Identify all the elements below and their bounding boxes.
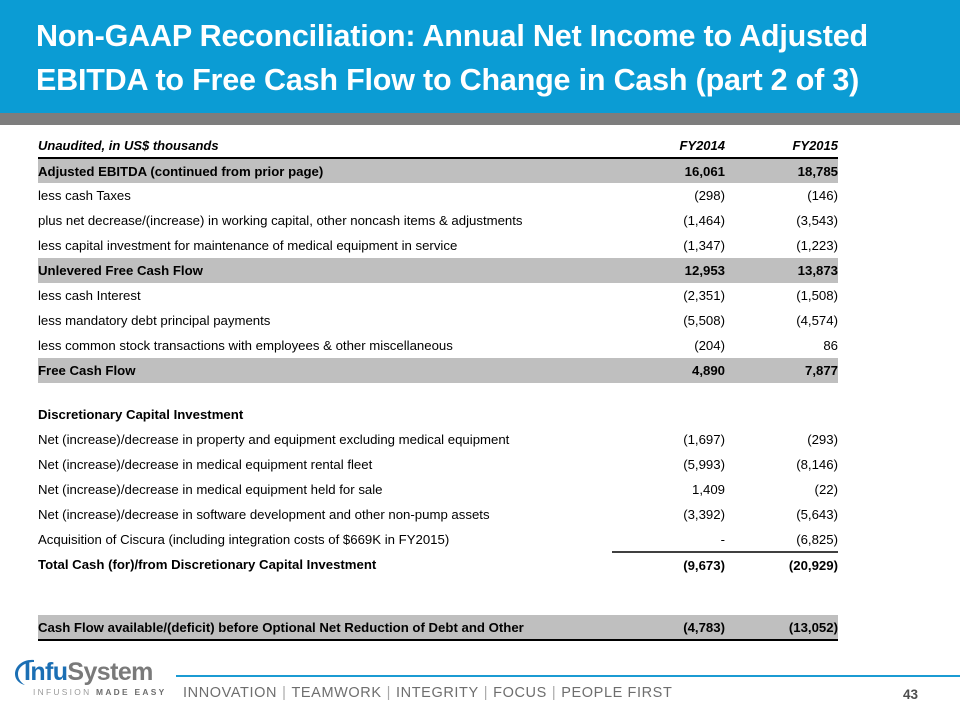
row-label: Net (increase)/decrease in software deve… — [38, 502, 612, 527]
logo-tagline-bold: MADE EASY — [96, 687, 167, 697]
value-teamwork: TEAMWORK — [291, 685, 381, 701]
table-header-row: Unaudited, in US$ thousands FY2014 FY201… — [38, 136, 838, 158]
page-number: 43 — [903, 687, 918, 702]
row-label: Net (increase)/decrease in medical equip… — [38, 477, 612, 502]
section-total-fy2014: (9,673) — [612, 552, 725, 577]
value-separator: | — [277, 685, 291, 701]
row-fy2014: (5,508) — [612, 308, 725, 333]
table-row: less common stock transactions with empl… — [38, 333, 838, 358]
row-fy2014: 4,890 — [612, 358, 725, 383]
row-fy2014: (5,993) — [612, 452, 725, 477]
table-row: plus net decrease/(increase) in working … — [38, 208, 838, 233]
spacer-cell — [612, 383, 725, 402]
header-underbar — [0, 113, 960, 125]
table-header-label: Unaudited, in US$ thousands — [38, 136, 612, 158]
value-innovation: INNOVATION — [183, 685, 277, 701]
section-total-row: Total Cash (for)/from Discretionary Capi… — [38, 552, 838, 577]
table-row: less cash Interest (2,351) (1,508) — [38, 283, 838, 308]
row-fy2014: 12,953 — [612, 258, 725, 283]
row-fy2014: (1,464) — [612, 208, 725, 233]
slide-header-banner: Non-GAAP Reconciliation: Annual Net Inco… — [0, 0, 960, 113]
row-label: Free Cash Flow — [38, 358, 612, 383]
row-label: plus net decrease/(increase) in working … — [38, 208, 612, 233]
row-fy2014: (1,697) — [612, 427, 725, 452]
row-fy2015: (22) — [725, 477, 838, 502]
row-label: Net (increase)/decrease in property and … — [38, 427, 612, 452]
logo-wordmark: InfuSystem — [24, 657, 153, 687]
table-row: Unlevered Free Cash Flow 12,953 13,873 — [38, 258, 838, 283]
table-row: less capital investment for maintenance … — [38, 233, 838, 258]
row-fy2015: (5,643) — [725, 502, 838, 527]
logo-tagline-light: INFUSION — [33, 687, 96, 697]
table-header-fy2015: FY2015 — [725, 136, 838, 158]
logo-tagline: INFUSION MADE EASY — [33, 687, 167, 697]
row-fy2014: 16,061 — [612, 158, 725, 183]
spacer-cell — [725, 383, 838, 402]
row-fy2015: (146) — [725, 183, 838, 208]
row-fy2014: (204) — [612, 333, 725, 358]
table-spacer-row — [38, 596, 838, 615]
table-row: Net (increase)/decrease in medical equip… — [38, 477, 838, 502]
section-heading-label: Discretionary Capital Investment — [38, 402, 612, 427]
section-heading-row: Discretionary Capital Investment — [38, 402, 838, 427]
footer-divider — [176, 675, 960, 677]
table-spacer-row — [38, 577, 838, 596]
section-total-fy2015: (20,929) — [725, 552, 838, 577]
final-row-label: Cash Flow available/(deficit) before Opt… — [38, 615, 612, 640]
row-fy2014: - — [612, 527, 725, 552]
row-fy2015: (4,574) — [725, 308, 838, 333]
section-heading-fy2014 — [612, 402, 725, 427]
spacer-cell — [725, 577, 838, 596]
value-integrity: INTEGRITY — [396, 685, 479, 701]
slide-footer: InfuSystem INFUSION MADE EASY INNOVATION… — [0, 655, 960, 720]
row-label: Net (increase)/decrease in medical equip… — [38, 452, 612, 477]
row-fy2015: 18,785 — [725, 158, 838, 183]
final-row-fy2015: (13,052) — [725, 615, 838, 640]
table-header-fy2014: FY2014 — [612, 136, 725, 158]
section-heading-fy2015 — [725, 402, 838, 427]
row-label: less mandatory debt principal payments — [38, 308, 612, 333]
spacer-cell — [725, 596, 838, 615]
table-row: Free Cash Flow 4,890 7,877 — [38, 358, 838, 383]
value-separator: | — [547, 685, 561, 701]
row-label: Acquisition of Ciscura (including integr… — [38, 527, 612, 552]
reconciliation-table: Unaudited, in US$ thousands FY2014 FY201… — [38, 136, 838, 641]
value-people-first: PEOPLE FIRST — [561, 685, 672, 701]
row-fy2015: (293) — [725, 427, 838, 452]
page-title: Non-GAAP Reconciliation: Annual Net Inco… — [36, 14, 934, 102]
row-label: less capital investment for maintenance … — [38, 233, 612, 258]
row-fy2014: (1,347) — [612, 233, 725, 258]
table-row: Net (increase)/decrease in medical equip… — [38, 452, 838, 477]
section-total-label: Total Cash (for)/from Discretionary Capi… — [38, 552, 612, 577]
row-fy2015: 7,877 — [725, 358, 838, 383]
spacer-cell — [38, 596, 612, 615]
row-fy2015: (8,146) — [725, 452, 838, 477]
financial-table-container: Unaudited, in US$ thousands FY2014 FY201… — [38, 136, 838, 641]
row-fy2015: (1,508) — [725, 283, 838, 308]
final-row-fy2014: (4,783) — [612, 615, 725, 640]
row-fy2014: 1,409 — [612, 477, 725, 502]
spacer-cell — [38, 383, 612, 402]
row-fy2015: (3,543) — [725, 208, 838, 233]
row-fy2014: (3,392) — [612, 502, 725, 527]
row-label: Unlevered Free Cash Flow — [38, 258, 612, 283]
row-label: less common stock transactions with empl… — [38, 333, 612, 358]
final-summary-row: Cash Flow available/(deficit) before Opt… — [38, 615, 838, 640]
row-label: less cash Interest — [38, 283, 612, 308]
table-row: Adjusted EBITDA (continued from prior pa… — [38, 158, 838, 183]
infusystem-logo: InfuSystem INFUSION MADE EASY — [10, 657, 170, 707]
value-separator: | — [479, 685, 493, 701]
table-row: Net (increase)/decrease in software deve… — [38, 502, 838, 527]
table-spacer-row — [38, 383, 838, 402]
row-label: Adjusted EBITDA (continued from prior pa… — [38, 158, 612, 183]
table-row: less cash Taxes (298) (146) — [38, 183, 838, 208]
table-row: Net (increase)/decrease in property and … — [38, 427, 838, 452]
core-values-list: INNOVATION|TEAMWORK|INTEGRITY|FOCUS|PEOP… — [183, 685, 672, 701]
spacer-cell — [612, 577, 725, 596]
row-label: less cash Taxes — [38, 183, 612, 208]
table-row: Acquisition of Ciscura (including integr… — [38, 527, 838, 552]
table-row: less mandatory debt principal payments (… — [38, 308, 838, 333]
row-fy2015: 86 — [725, 333, 838, 358]
spacer-cell — [612, 596, 725, 615]
row-fy2015: 13,873 — [725, 258, 838, 283]
value-separator: | — [382, 685, 396, 701]
spacer-cell — [38, 577, 612, 596]
value-focus: FOCUS — [493, 685, 547, 701]
row-fy2015: (1,223) — [725, 233, 838, 258]
row-fy2014: (2,351) — [612, 283, 725, 308]
logo-name-part1: Infu — [24, 658, 67, 686]
logo-name-part2: System — [67, 658, 152, 686]
row-fy2014: (298) — [612, 183, 725, 208]
row-fy2015: (6,825) — [725, 527, 838, 552]
